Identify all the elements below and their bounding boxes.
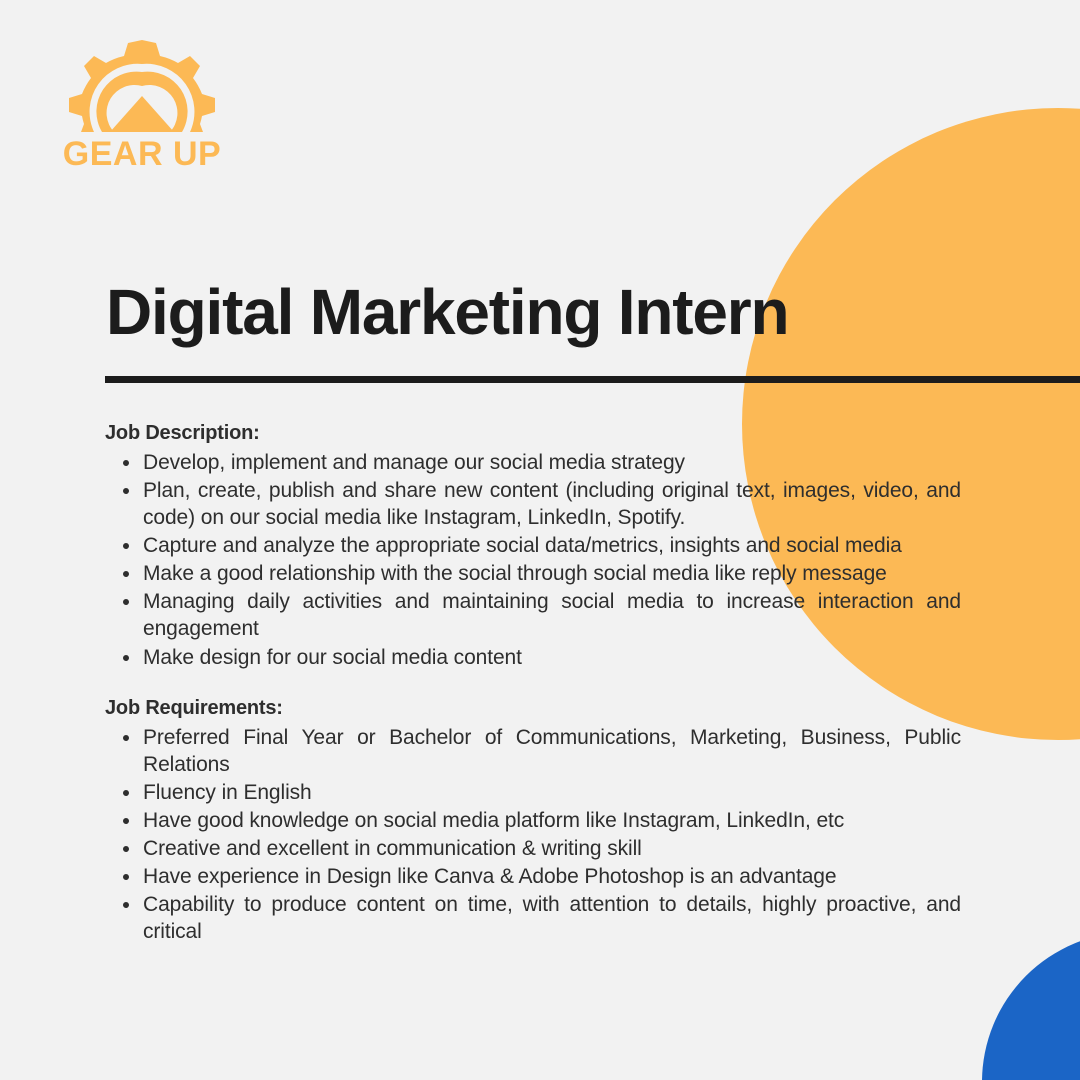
gear-arch-logo-icon bbox=[69, 40, 215, 132]
list-item: Managing daily activities and maintainin… bbox=[105, 588, 961, 642]
list-item-text: Fluency in English bbox=[143, 779, 961, 806]
brand-logo: GEAR UP bbox=[52, 36, 232, 171]
section-job-requirements: Job Requirements: Preferred Final Year o… bbox=[105, 695, 961, 946]
list-item: Make a good relationship with the social… bbox=[105, 560, 961, 587]
list-item-text: Have good knowledge on social media plat… bbox=[143, 807, 961, 834]
list-item-text: Capability to produce content on time, w… bbox=[143, 891, 961, 945]
list-item-text: Make a good relationship with the social… bbox=[143, 560, 961, 587]
title-divider-rule bbox=[105, 376, 1080, 383]
section-heading: Job Requirements: bbox=[105, 695, 961, 722]
page-title: Digital Marketing Intern bbox=[106, 279, 788, 346]
section-heading: Job Description: bbox=[105, 420, 961, 447]
brand-wordmark: GEAR UP bbox=[63, 135, 221, 171]
list-item: Preferred Final Year or Bachelor of Comm… bbox=[105, 724, 961, 778]
list-item-text: Have experience in Design like Canva & A… bbox=[143, 863, 961, 890]
list-item-text: Plan, create, publish and share new cont… bbox=[143, 477, 961, 531]
list-item: Capability to produce content on time, w… bbox=[105, 891, 961, 945]
decorative-blue-circle bbox=[982, 932, 1080, 1080]
section-job-description: Job Description: Develop, implement and … bbox=[105, 420, 961, 671]
job-requirements-list: Preferred Final Year or Bachelor of Comm… bbox=[105, 724, 961, 946]
list-item-text: Make design for our social media content bbox=[143, 644, 961, 671]
list-item: Fluency in English bbox=[105, 779, 961, 806]
list-item: Develop, implement and manage our social… bbox=[105, 449, 961, 476]
list-item: Make design for our social media content bbox=[105, 644, 961, 671]
list-item-text: Managing daily activities and maintainin… bbox=[143, 588, 961, 642]
list-item-text: Develop, implement and manage our social… bbox=[143, 449, 961, 476]
list-item: Have good knowledge on social media plat… bbox=[105, 807, 961, 834]
list-item-text: Creative and excellent in communication … bbox=[143, 835, 961, 862]
list-item: Creative and excellent in communication … bbox=[105, 835, 961, 862]
list-item: Have experience in Design like Canva & A… bbox=[105, 863, 961, 890]
list-item-text: Preferred Final Year or Bachelor of Comm… bbox=[143, 724, 961, 778]
list-item-text: Capture and analyze the appropriate soci… bbox=[143, 532, 961, 559]
job-description-list: Develop, implement and manage our social… bbox=[105, 449, 961, 671]
list-item: Plan, create, publish and share new cont… bbox=[105, 477, 961, 531]
job-poster: GEAR UP Digital Marketing Intern Job Des… bbox=[0, 0, 1080, 1080]
list-item: Capture and analyze the appropriate soci… bbox=[105, 532, 961, 559]
job-content: Job Description: Develop, implement and … bbox=[105, 420, 961, 946]
